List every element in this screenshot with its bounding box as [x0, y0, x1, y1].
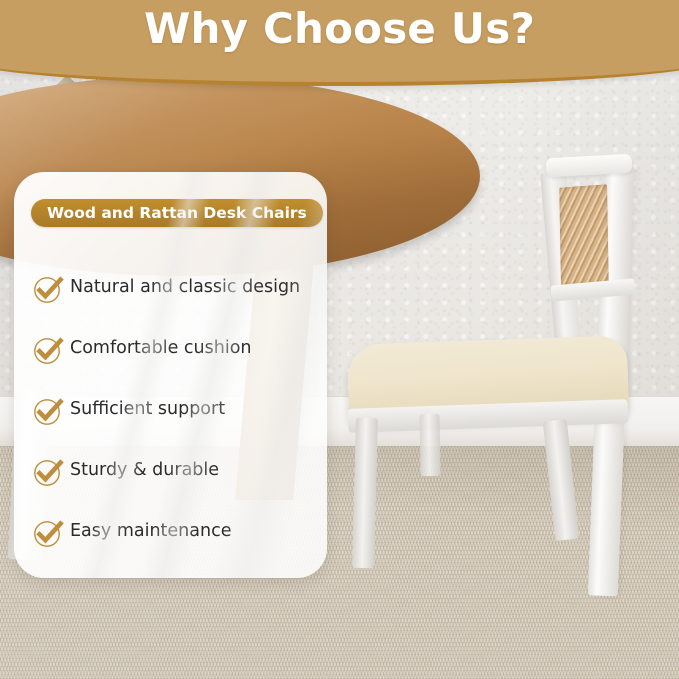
- check-circle-icon: [32, 271, 66, 305]
- promo-image-canvas: Wood and Rattan Desk Chairs Natural and …: [0, 0, 679, 679]
- chair-front-leg: [352, 418, 378, 569]
- check-circle-icon: [32, 454, 66, 488]
- feature-item: Natural and classic design: [24, 257, 324, 318]
- feature-item-label: Easy maintenance: [70, 523, 231, 541]
- feature-item: Sufficient support: [24, 379, 324, 440]
- feature-item-label: Natural and classic design: [70, 279, 300, 297]
- chair-rear-leg: [543, 419, 579, 541]
- check-circle-icon: [32, 393, 66, 427]
- chair-mid-leg: [419, 414, 440, 476]
- feature-card: Wood and Rattan Desk Chairs Natural and …: [14, 172, 327, 578]
- feature-item: Sturdy & durable: [24, 440, 324, 501]
- page-title: Why Choose Us?: [0, 4, 679, 53]
- feature-list: Natural and classic design Comfortable c…: [24, 257, 324, 562]
- header-banner: Why Choose Us?: [0, 0, 679, 86]
- feature-item: Comfortable cushion: [24, 318, 324, 379]
- check-circle-icon: [32, 515, 66, 549]
- product-title-badge-label: Wood and Rattan Desk Chairs: [47, 204, 307, 222]
- feature-item-label: Sturdy & durable: [70, 462, 219, 480]
- product-title-badge: Wood and Rattan Desk Chairs: [31, 199, 323, 227]
- chair-rattan-panel: [559, 184, 609, 285]
- feature-item: Easy maintenance: [24, 501, 324, 562]
- check-circle-icon: [32, 332, 66, 366]
- feature-item-label: Sufficient support: [70, 401, 225, 419]
- feature-item-label: Comfortable cushion: [70, 340, 252, 358]
